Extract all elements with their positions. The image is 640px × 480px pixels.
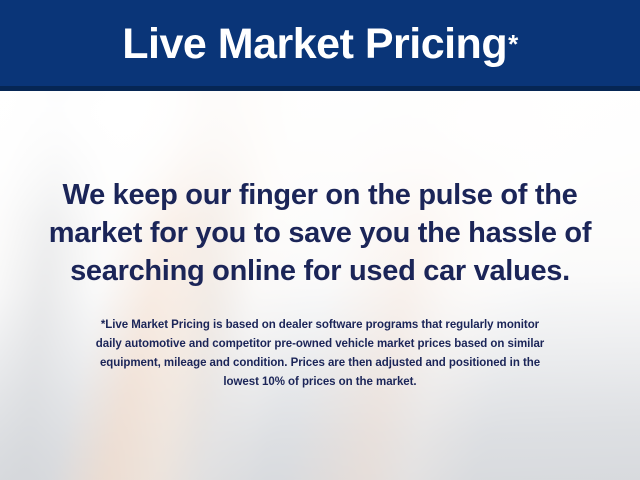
live-market-pricing-slide: Live Market Pricing* We keep our finger … <box>0 0 640 480</box>
header-banner: Live Market Pricing* <box>0 0 640 90</box>
fineprint-block: *Live Market Pricing is based on dealer … <box>22 316 618 392</box>
headline-block: We keep our finger on the pulse of the m… <box>24 176 616 290</box>
fineprint-line-1: *Live Market Pricing is based on dealer … <box>22 316 618 335</box>
headline-line-2: market for you to save you the hassle of <box>24 214 616 252</box>
banner-bottom-edge <box>0 86 640 91</box>
headline-line-1: We keep our finger on the pulse of the <box>24 176 616 214</box>
fineprint-line-2: daily automotive and competitor pre-owne… <box>22 335 618 354</box>
page-title: Live Market Pricing* <box>0 0 640 88</box>
page-title-asterisk: * <box>508 31 518 57</box>
headline-line-3: searching online for used car values. <box>24 252 616 290</box>
page-title-text: Live Market Pricing <box>122 23 507 66</box>
fineprint-line-4: lowest 10% of prices on the market. <box>22 373 618 392</box>
fineprint-line-3: equipment, mileage and condition. Prices… <box>22 354 618 373</box>
